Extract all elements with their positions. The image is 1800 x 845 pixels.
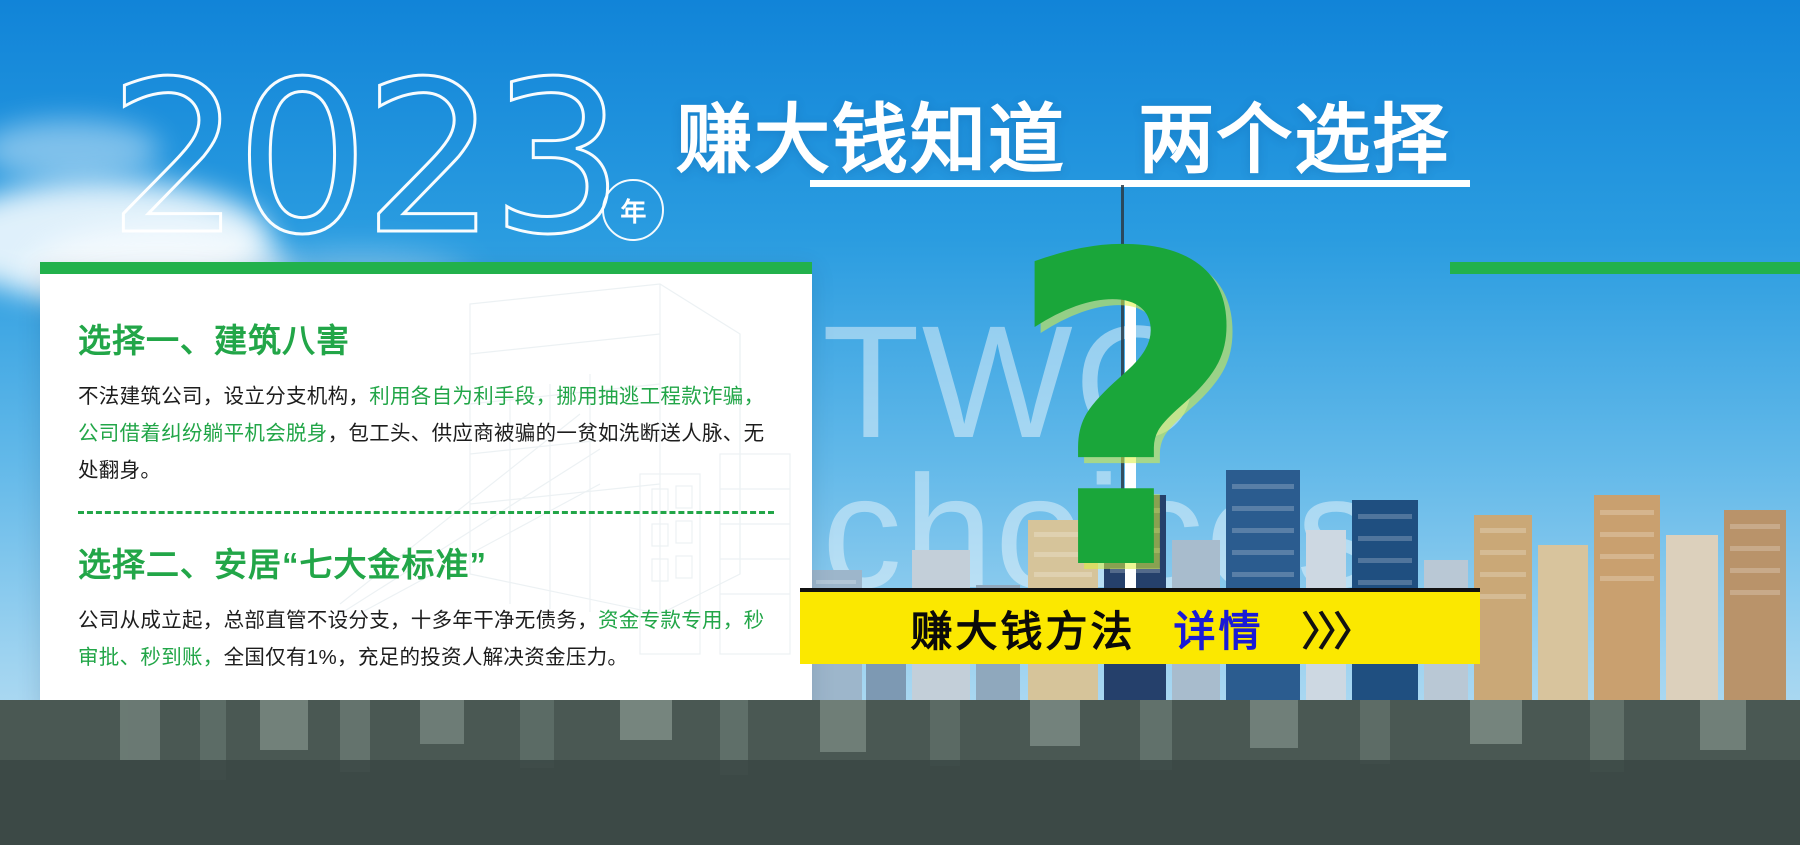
- section-1-body: 不法建筑公司，设立分支机构，利用各自为利手段，挪用抽逃工程款诈骗，公司借着纠纷躺…: [78, 378, 774, 489]
- section-1-run-1: 不法建筑公司，设立分支机构，: [78, 385, 369, 408]
- water-reflection-svg: [0, 700, 1800, 845]
- year-number: 2023: [108, 62, 618, 255]
- cta-link-label[interactable]: 详情: [1174, 598, 1264, 659]
- cta-main-label: 赚大钱方法: [910, 598, 1135, 659]
- cta-banner[interactable]: 赚大钱方法 详情 〉〉〉: [800, 588, 1480, 664]
- poster-canvas: 2023 年 赚大钱知道 两个选择 TWO choices: [0, 0, 1800, 845]
- section-2-run-3: 全国仅有1%，充足的投资人解决资金压力。: [224, 646, 629, 669]
- chevron-right-icon: 〉〉〉: [1302, 599, 1370, 657]
- section-2-run-1: 公司从成立起，总部直管不设分支，十多年干净无债务，: [78, 609, 598, 632]
- green-accent-bar: [1450, 262, 1800, 274]
- content-card: 选择一、建筑八害 不法建筑公司，设立分支机构，利用各自为利手段，挪用抽逃工程款诈…: [40, 262, 812, 711]
- section-divider: [78, 511, 774, 514]
- question-mark-icon: ?: [1005, 200, 1254, 630]
- foreground-water-band: [0, 700, 1800, 845]
- section-2-title: 选择二、安居“七大金标准”: [78, 538, 774, 586]
- section-1-title: 选择一、建筑八害: [78, 314, 774, 362]
- year-suffix-label: 年: [602, 179, 664, 241]
- section-2-body: 公司从成立起，总部直管不设分支，十多年干净无债务，资金专款专用，秒审批、秒到账，…: [78, 602, 774, 676]
- year-badge: 2023 年: [108, 62, 664, 255]
